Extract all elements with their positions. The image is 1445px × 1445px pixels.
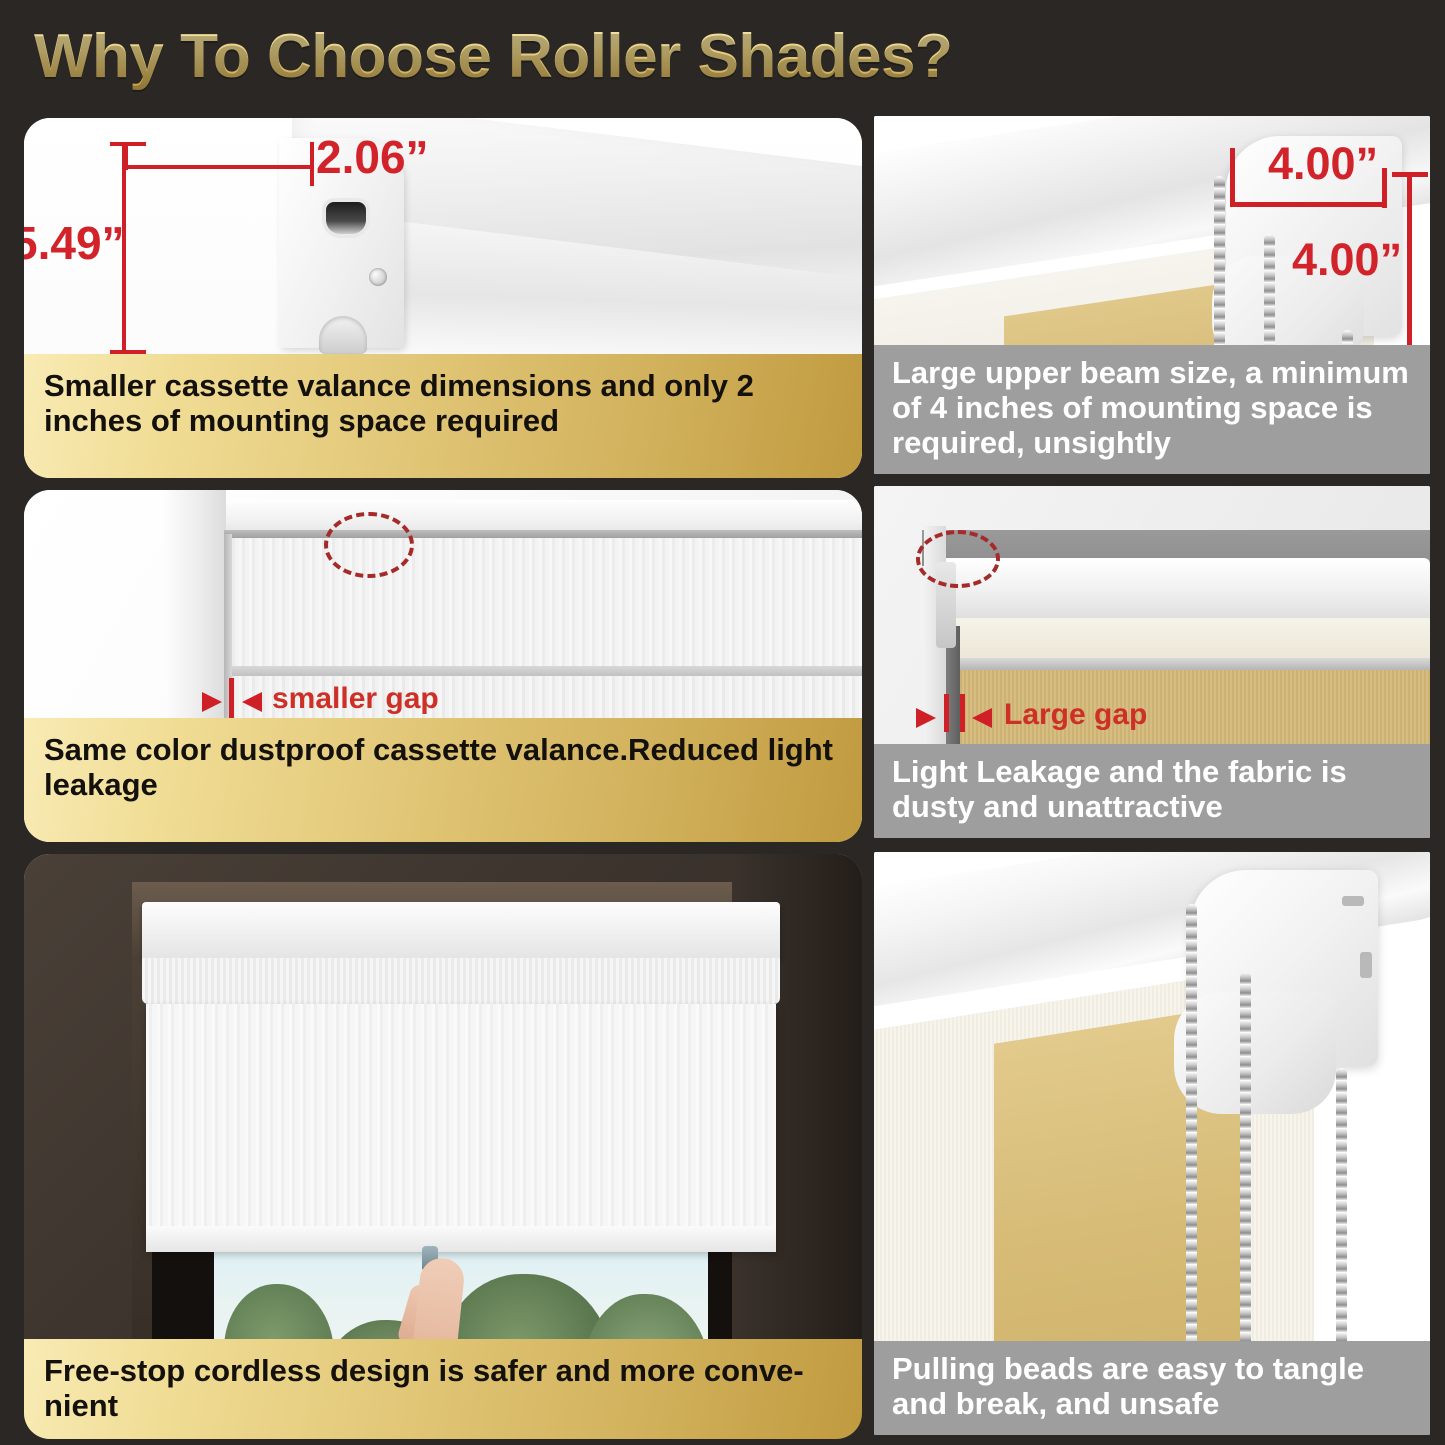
panel-bottom-right: Pulling beads are easy to tangle and bre… — [874, 852, 1430, 1435]
bead-chain-2 — [1240, 972, 1251, 1384]
beam-width-tick-right — [1382, 168, 1387, 208]
gap-marker-line-b — [960, 694, 965, 732]
screw-icon — [369, 268, 387, 286]
width-dimension-label: 2.06” — [316, 130, 429, 184]
beam-height-tick-top — [1392, 172, 1428, 177]
page-header: Why To Choose Roller Shades? — [0, 0, 1445, 112]
beam-width-line — [1230, 202, 1386, 207]
beam-width-tick-left — [1230, 148, 1235, 206]
bead-chain-1 — [1186, 904, 1197, 1384]
cassette-valance-lower — [142, 958, 780, 1004]
valance-white — [944, 558, 1430, 624]
beam-height-line — [1407, 174, 1412, 352]
caption-top-right: Large upper beam size, a minimum of 4 in… — [874, 345, 1430, 474]
caption-bottom-left: Free-stop cordless design is safer and m… — [24, 1339, 862, 1439]
shade-panel-upper — [229, 538, 862, 666]
bracket-slot-2 — [1360, 952, 1372, 978]
valance-cream — [944, 618, 1430, 660]
beam-height-label: 4.00” — [1292, 234, 1402, 286]
highlight-ellipse — [916, 530, 1000, 588]
bead-chain-3 — [1336, 1068, 1347, 1384]
caption-middle-right: Light Leakage and the fabric is dusty an… — [874, 744, 1430, 838]
gap-label-large: Large gap — [1004, 698, 1147, 732]
caption-bottom-right: Pulling beads are easy to tangle and bre… — [874, 1341, 1430, 1435]
valance-rail — [942, 658, 1430, 670]
gap-marker-line-a — [944, 694, 949, 732]
roller-shade-fabric — [146, 1004, 776, 1250]
panel-middle-left: smaller gap Same color dustproof cassett… — [24, 490, 862, 842]
gap-label-smaller: smaller gap — [272, 682, 439, 716]
width-dim-tick-right — [310, 142, 314, 186]
shade-hem-bar — [146, 1226, 776, 1252]
panel-bottom-left: Free-stop cordless design is safer and m… — [24, 854, 862, 1439]
gap-arrow-right — [972, 708, 992, 728]
beam-width-label: 4.00” — [1268, 138, 1378, 190]
panel-top-left: 2.06” 5.49” Smaller cassette valance dim… — [24, 118, 862, 478]
caption-middle-left: Same color dustproof cassette valance.Re… — [24, 718, 862, 842]
mounting-bracket-lower — [1174, 992, 1336, 1114]
width-dim-line — [124, 165, 314, 169]
panel-middle-right: Large gap Light Leakage and the fabric i… — [874, 486, 1430, 838]
cassette-valance — [142, 902, 780, 960]
comparison-grid: 2.06” 5.49” Smaller cassette valance dim… — [0, 112, 1445, 1445]
height-dimension-label: 5.49” — [24, 216, 125, 270]
bracket-slot-1 — [1342, 896, 1364, 906]
height-dim-tick-top — [110, 142, 146, 146]
gap-marker-line — [229, 678, 234, 718]
panel-top-right: 4.00” 4.00” Large upper beam size, a min… — [874, 116, 1430, 474]
caption-top-left: Smaller cassette valance dimensions and … — [24, 354, 862, 478]
gap-arrow-left — [202, 692, 222, 712]
highlight-ellipse — [324, 512, 414, 578]
gap-arrow-right — [242, 692, 262, 712]
page-title: Why To Choose Roller Shades? — [34, 21, 952, 92]
valance-slot — [326, 202, 366, 234]
gap-arrow-left — [916, 708, 936, 728]
